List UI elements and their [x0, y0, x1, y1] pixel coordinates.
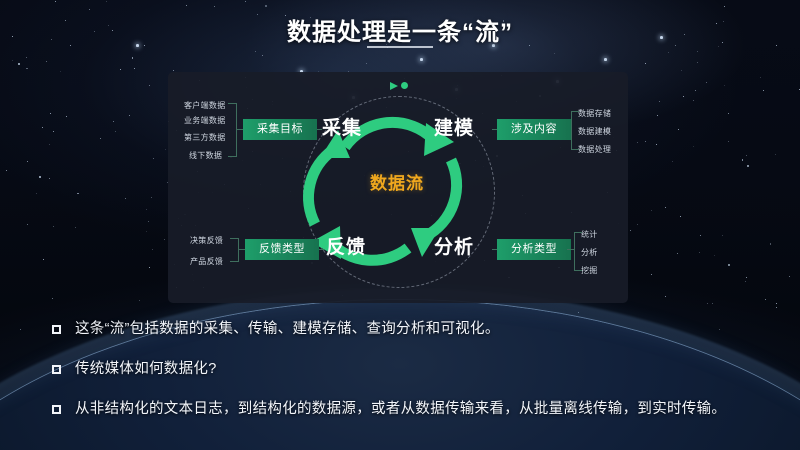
bullet-square-icon: [52, 325, 61, 334]
leaf-model-0: 数据存储: [578, 108, 611, 119]
stage-node-model: 建模: [434, 113, 474, 140]
pill-feedback-type: 反馈类型: [245, 239, 319, 260]
bracket-feedback: [230, 238, 239, 262]
leaf-collect-2: 第三方数据: [184, 132, 226, 143]
leaf-feedback-1: 产品反馈: [190, 256, 223, 267]
leaf-model-2: 数据处理: [578, 144, 611, 155]
leaf-analyze-2: 挖掘: [581, 265, 598, 276]
bullet-text-2: 从非结构化的文本日志，到结构化的数据源，或者从数据传输来看，从批量离线传输，到实…: [75, 400, 726, 418]
pill-model-content: 涉及内容: [497, 119, 571, 140]
stage-node-collect: 采集: [322, 113, 362, 140]
list-item: 这条“流”包括数据的采集、传输、建模存储、查询分析和可视化。: [52, 320, 752, 338]
center-label-data-flow: 数据流: [370, 169, 424, 194]
bullet-text-1: 传统媒体如何数据化?: [75, 360, 217, 378]
bracket-collect: [228, 103, 237, 157]
bullet-square-icon: [52, 365, 61, 374]
list-item: 从非结构化的文本日志，到结构化的数据源，或者从数据传输来看，从批量离线传输，到实…: [52, 400, 752, 418]
leaf-analyze-1: 分析: [581, 247, 598, 258]
bracket-collect-stem: [236, 129, 243, 130]
connector-collect-node: [317, 129, 322, 130]
connector-analyze-node: [492, 249, 497, 250]
connector-feedback-node: [319, 249, 324, 250]
leaf-feedback-0: 决策反馈: [190, 235, 223, 246]
leaf-analyze-0: 统计: [581, 229, 598, 240]
arrow-feedback-to-collect-icon: [309, 130, 350, 224]
connector-model-node: [492, 129, 497, 130]
leaf-collect-0: 客户端数据: [184, 100, 226, 111]
bracket-feedback-stem: [238, 249, 245, 250]
page-title: 数据处理是一条“流”: [0, 12, 800, 47]
bullet-square-icon: [52, 405, 61, 414]
leaf-collect-1: 业务端数据: [184, 115, 226, 126]
bullet-list: 这条“流”包括数据的采集、传输、建模存储、查询分析和可视化。 传统媒体如何数据化…: [52, 320, 752, 440]
bracket-analyze-stem: [567, 249, 574, 250]
stage-node-analyze: 分析: [434, 232, 474, 259]
pill-collect-target: 采集目标: [243, 119, 317, 140]
bracket-model: [571, 111, 579, 150]
title-underline: [367, 46, 433, 48]
bullet-text-0: 这条“流”包括数据的采集、传输、建模存储、查询分析和可视化。: [75, 320, 500, 338]
leaf-model-1: 数据建模: [578, 126, 611, 137]
list-item: 传统媒体如何数据化?: [52, 360, 752, 378]
bracket-analyze: [574, 232, 582, 271]
stage-node-feedback: 反馈: [326, 232, 366, 259]
leaf-collect-3: 线下数据: [189, 150, 222, 161]
pill-analyze-type: 分析类型: [497, 239, 571, 260]
